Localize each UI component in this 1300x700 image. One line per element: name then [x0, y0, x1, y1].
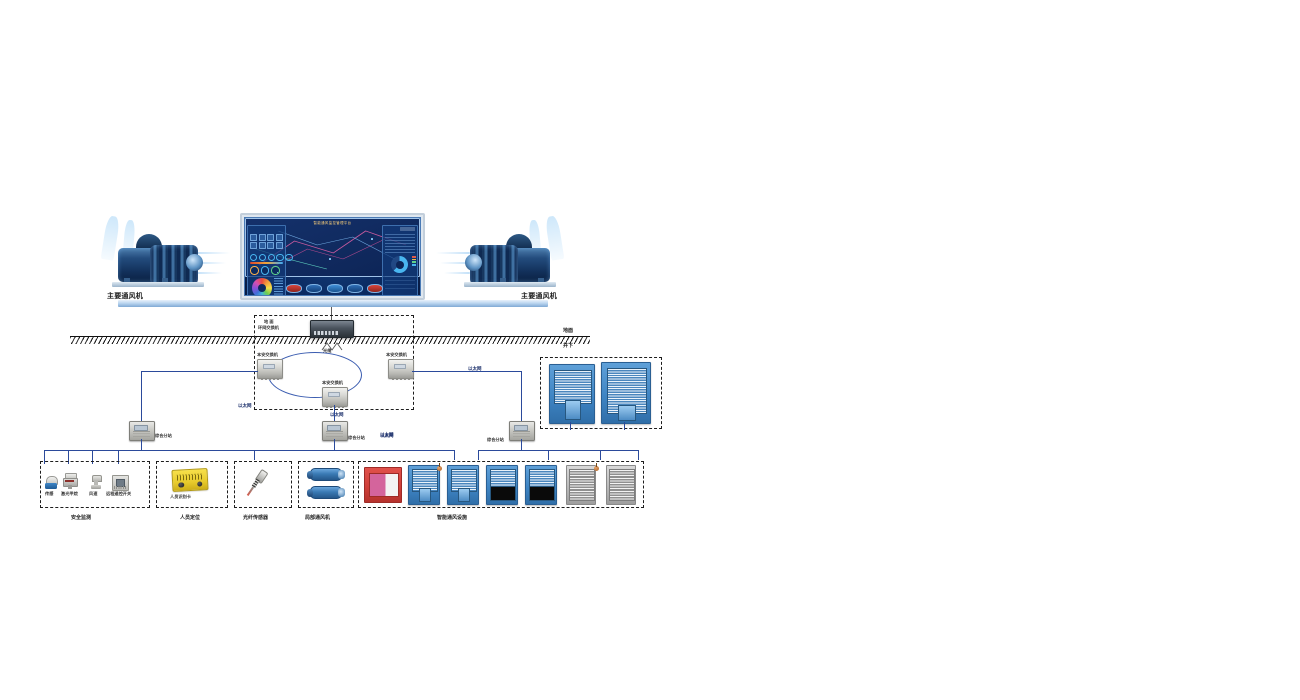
group-label-intelligent-ventilation: 智能通风设施	[437, 514, 467, 521]
integrated-substation-center[interactable]	[322, 421, 348, 441]
control-monitor[interactable]: 智能通风监控管理平台	[240, 213, 425, 300]
bridge-louver-icon	[609, 469, 635, 501]
screen-mini-bars	[274, 278, 283, 296]
door-handle-icon	[594, 466, 599, 471]
gauge-icon	[285, 254, 292, 261]
equipment-smart-air-door-2[interactable]	[447, 465, 479, 505]
equipment-gas-sensor[interactable]	[45, 476, 57, 489]
switch-ports-icon	[392, 378, 410, 380]
sensor-stem-icon	[68, 485, 72, 489]
fan-hub-icon	[186, 254, 203, 271]
wire-drop-8	[548, 450, 549, 460]
wire-sub-right-down	[521, 439, 522, 450]
gauge-icon	[259, 254, 266, 261]
wire-drop-9	[600, 450, 601, 460]
screen-left-panel	[247, 225, 286, 296]
curtain-louver-icon	[569, 469, 595, 501]
substation-grill-icon	[513, 431, 530, 437]
equipment-laser-methane[interactable]	[63, 473, 76, 489]
wire-left-drop	[141, 371, 142, 422]
grid-icon	[267, 234, 274, 241]
wire-cabinet-1	[570, 422, 571, 430]
door-handle-icon	[437, 466, 442, 471]
grid-icon	[276, 242, 283, 249]
card-button-icon	[197, 481, 203, 487]
grid-icon	[259, 242, 266, 249]
color-wheel-icon	[252, 278, 272, 296]
cabinet-door-icon	[419, 488, 431, 501]
fan-base-icon	[112, 282, 204, 287]
equipment-local-ventilator-2[interactable]	[310, 486, 342, 499]
sensor-body-icon	[45, 483, 57, 489]
door-panel-icon	[369, 473, 398, 497]
grid-icon	[267, 242, 274, 249]
intrinsic-safe-switch-right[interactable]	[388, 359, 414, 379]
monitor-screen: 智能通风监控管理平台	[244, 217, 421, 296]
intrinsic-safe-switch-bottom[interactable]	[322, 387, 348, 407]
grid-icon	[250, 234, 257, 241]
screen-data-grid	[385, 276, 415, 292]
legend-swatch	[412, 256, 416, 258]
ground-ring-switch[interactable]	[310, 320, 354, 338]
wire-drop-10	[638, 450, 639, 460]
valve-foot-icon	[91, 485, 101, 489]
equipment-local-ventilator-1[interactable]	[310, 468, 342, 481]
cabinet-door-icon	[618, 405, 635, 420]
bus-left	[44, 450, 254, 451]
substation-grill-icon	[326, 431, 343, 437]
screen-button[interactable]	[306, 284, 322, 293]
group-label-local-ventilator: 局部通风机	[305, 514, 330, 521]
equipment-personnel-card[interactable]	[171, 468, 208, 492]
underground-cabinet-2[interactable]	[601, 362, 651, 424]
equipment-label-laser-methane: 激光甲烷	[61, 491, 78, 497]
sensor-indicator-icon	[65, 480, 74, 483]
surface-floor	[118, 300, 548, 307]
equipment-label-gas-sensor: 传感	[45, 491, 53, 497]
card-button-icon	[178, 482, 184, 488]
chart-legend	[412, 256, 416, 266]
cabinet-louver-icon	[554, 370, 591, 404]
probe-tip-icon	[247, 487, 254, 496]
donut-chart-icon	[391, 256, 408, 273]
ground-switch-label-line2: 环网交换机	[258, 325, 279, 331]
screen-button[interactable]	[327, 284, 343, 293]
diagram-canvas: 主要通风机 主要通风机 智能通风监控管理平台	[0, 0, 1300, 700]
screen-button[interactable]	[286, 284, 302, 293]
surface-label: 地面	[563, 327, 573, 334]
intrinsic-switch-bottom-label: 本安交换机	[322, 380, 343, 386]
wire-drop-5	[254, 450, 255, 460]
group-label-personnel-positioning: 人员定位	[180, 514, 200, 521]
ethernet-label-sub: 以太网	[380, 433, 394, 439]
dial-icon	[261, 266, 270, 275]
gauge-icon	[250, 254, 257, 261]
equipment-smart-air-curtain[interactable]	[566, 465, 596, 505]
wire-drop-6	[454, 450, 455, 460]
screen-title: 智能通风监控管理平台	[245, 220, 420, 225]
equipment-smart-air-bridge[interactable]	[606, 465, 636, 505]
intrinsic-safe-switch-left[interactable]	[257, 359, 283, 379]
screen-icon-grid	[250, 234, 283, 249]
cabinet-louver-icon	[529, 469, 555, 488]
wire-drop-7	[478, 450, 479, 460]
equipment-smart-air-window-2[interactable]	[525, 465, 557, 505]
screen-color-bar	[250, 262, 283, 264]
screen-button-row[interactable]	[286, 284, 383, 293]
bus-center	[254, 450, 454, 451]
screen-button[interactable]	[367, 284, 383, 293]
main-ventilator-right-label: 主要通风机	[521, 291, 557, 301]
underground-cabinet-1[interactable]	[549, 364, 595, 424]
equipment-remote-switch[interactable]	[112, 475, 129, 491]
equipment-smart-air-door-1[interactable]	[408, 465, 440, 505]
integrated-substation-right-label: 综合分站	[487, 437, 504, 443]
screen-data-list	[385, 234, 415, 254]
dial-icon	[250, 266, 259, 275]
integrated-substation-left-label: 综合分站	[155, 433, 172, 439]
intrinsic-switch-left-label: 本安交换机	[257, 352, 278, 358]
main-ventilator-left	[100, 232, 216, 290]
integrated-substation-left[interactable]	[129, 421, 155, 441]
fiber-cable-icon	[321, 338, 343, 347]
screen-button[interactable]	[347, 284, 363, 293]
screen-dial-row	[250, 266, 280, 275]
main-ventilator-right	[452, 232, 568, 290]
card-text-icon	[177, 473, 203, 480]
grid-icon	[259, 234, 266, 241]
equipment-label-personnel-card: 人员识别卡	[170, 494, 191, 500]
wire-ring-to-right	[412, 371, 522, 372]
legend-swatch	[412, 259, 416, 261]
legend-swatch	[412, 261, 416, 263]
substation-grill-icon	[133, 431, 150, 437]
grid-icon	[276, 234, 283, 241]
ethernet-label-center: 以太网	[330, 412, 344, 418]
equipment-wind-speed-sensor[interactable]	[91, 475, 101, 489]
wire-ring-to-left	[141, 371, 258, 372]
equipment-label-remote-switch: 远程遥控开关	[106, 491, 131, 497]
integrated-substation-right[interactable]	[509, 421, 535, 441]
cabinet-door-icon	[458, 488, 470, 501]
legend-swatch	[412, 264, 416, 266]
equipment-air-door-red[interactable]	[364, 467, 402, 503]
fan-hub-icon	[465, 254, 482, 271]
underground-label: 井下	[563, 342, 573, 349]
dial-icon	[271, 266, 280, 275]
group-label-fiber-sensor: 光纤传感器	[243, 514, 268, 521]
main-ventilator-left-label: 主要通风机	[107, 291, 143, 301]
map-node	[329, 258, 331, 260]
wire-cabinet-2	[624, 422, 625, 430]
screen-right-panel	[382, 225, 418, 296]
screen-gauge-row	[250, 254, 293, 261]
wire-sub-left-down	[141, 439, 142, 450]
wire-right-drop	[521, 371, 522, 422]
cabinet-door-icon	[565, 400, 581, 419]
intrinsic-switch-right-label: 本安交换机	[386, 352, 407, 358]
gauge-icon	[268, 254, 275, 261]
pins-icon	[114, 486, 127, 489]
map-node	[371, 238, 373, 240]
bus-right	[478, 450, 638, 451]
equipment-smart-air-window-1[interactable]	[486, 465, 518, 505]
integrated-substation-center-label: 综合分站	[348, 435, 365, 441]
gauge-icon	[276, 254, 283, 261]
window-opening-icon	[490, 486, 516, 501]
switch-ports-icon	[261, 378, 279, 380]
group-label-safety-monitoring: 安全监测	[71, 514, 91, 521]
ethernet-label-left: 以太网	[238, 403, 252, 409]
window-opening-icon	[529, 486, 555, 501]
cabinet-louver-icon	[490, 469, 516, 488]
wire-sub-center-down	[334, 439, 335, 450]
switch-ports-icon	[314, 331, 339, 335]
group-box-fiber-sensor	[234, 461, 292, 508]
fan-base-icon	[464, 282, 556, 287]
equipment-label-wind-speed: 风速	[89, 491, 97, 497]
grid-icon	[250, 242, 257, 249]
